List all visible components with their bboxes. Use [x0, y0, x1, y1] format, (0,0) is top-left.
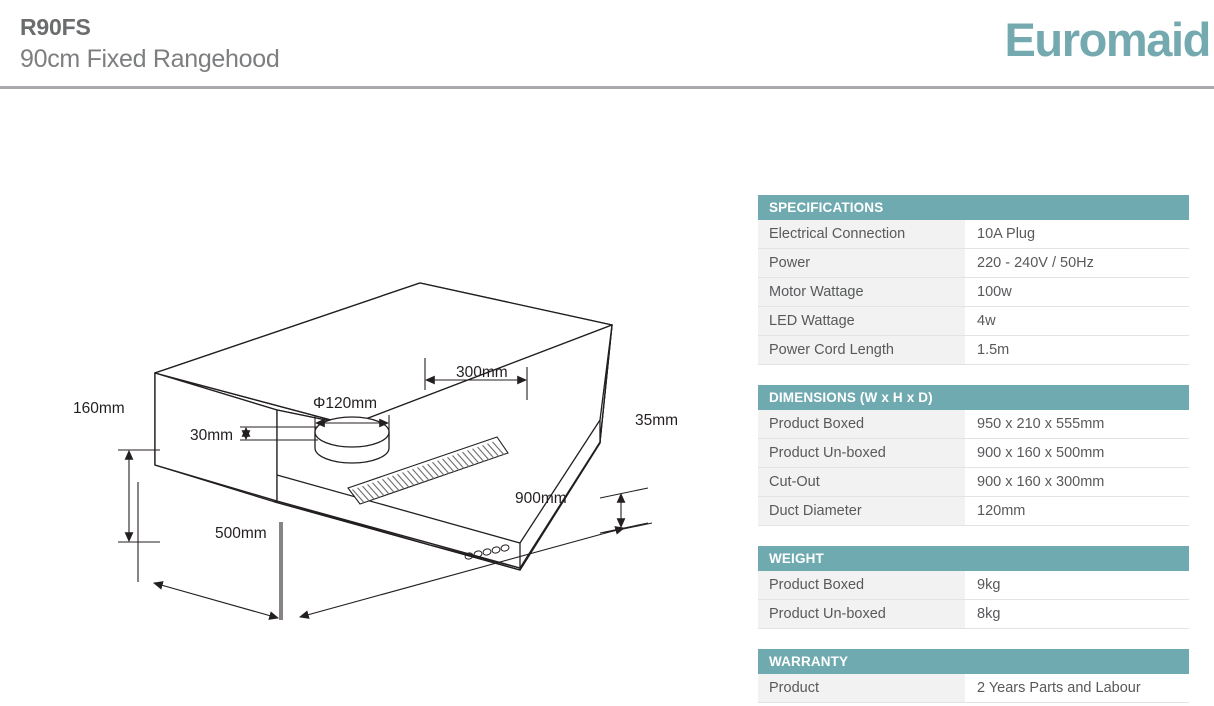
- spec-table-warranty: WARRANTY Product 2 Years Parts and Labou…: [758, 649, 1189, 703]
- spec-label: LED Wattage: [758, 307, 965, 335]
- spec-table-header-specifications: SPECIFICATIONS: [758, 195, 1189, 220]
- table-row: Power 220 - 240V / 50Hz: [758, 249, 1189, 278]
- model-code: R90FS: [20, 14, 91, 41]
- dim-label-duct-diameter: Φ120mm: [313, 395, 377, 412]
- table-row: Electrical Connection 10A Plug: [758, 220, 1189, 249]
- spec-label: Product Un-boxed: [758, 600, 965, 628]
- spec-label: Power Cord Length: [758, 336, 965, 364]
- spec-table-header-dimensions: DIMENSIONS (W x H x D): [758, 385, 1189, 410]
- duct-cylinder: [315, 417, 389, 463]
- brand-logo: Euromaid: [1004, 16, 1210, 63]
- table-row: Duct Diameter 120mm: [758, 497, 1189, 526]
- dim-body-height: [118, 450, 160, 542]
- dim-label-front-band-height: 35mm: [635, 412, 678, 429]
- rangehood-isometric-svg: Φ120mm 30mm 300mm 160mm 35mm 500mm 900mm: [0, 90, 740, 706]
- spec-label: Power: [758, 249, 965, 277]
- dim-front-band-height: [600, 488, 648, 533]
- spec-table-dimensions: DIMENSIONS (W x H x D) Product Boxed 950…: [758, 385, 1189, 526]
- table-row: Product Boxed 950 x 210 x 555mm: [758, 410, 1189, 439]
- spec-value: 1.5m: [965, 336, 1189, 364]
- spec-value: 4w: [965, 307, 1189, 335]
- spec-table-weight: WEIGHT Product Boxed 9kg Product Un-boxe…: [758, 546, 1189, 629]
- table-row: LED Wattage 4w: [758, 307, 1189, 336]
- spec-value: 2 Years Parts and Labour: [965, 674, 1189, 702]
- spec-value: 900 x 160 x 500mm: [965, 439, 1189, 467]
- spec-table-header-warranty: WARRANTY: [758, 649, 1189, 674]
- dim-label-top-depth: 300mm: [456, 364, 508, 381]
- spec-label: Product: [758, 674, 965, 702]
- table-row: Product Un-boxed 8kg: [758, 600, 1189, 629]
- specification-tables: SPECIFICATIONS Electrical Connection 10A…: [758, 195, 1189, 703]
- spec-label: Cut-Out: [758, 468, 965, 496]
- header-divider: [0, 86, 1214, 89]
- dim-label-product-depth: 500mm: [215, 525, 267, 542]
- spec-label: Product Boxed: [758, 410, 965, 438]
- page-header: R90FS 90cm Fixed Rangehood Euromaid: [0, 0, 1214, 90]
- spec-label: Electrical Connection: [758, 220, 965, 248]
- product-name: 90cm Fixed Rangehood: [20, 45, 279, 74]
- table-row: Product Boxed 9kg: [758, 571, 1189, 600]
- spec-table-specifications: SPECIFICATIONS Electrical Connection 10A…: [758, 195, 1189, 365]
- table-row: Power Cord Length 1.5m: [758, 336, 1189, 365]
- spec-value: 100w: [965, 278, 1189, 306]
- table-row: Product Un-boxed 900 x 160 x 500mm: [758, 439, 1189, 468]
- spec-value: 120mm: [965, 497, 1189, 525]
- spec-value: 8kg: [965, 600, 1189, 628]
- spec-value: 900 x 160 x 300mm: [965, 468, 1189, 496]
- dim-label-body-height: 160mm: [73, 400, 125, 417]
- spec-value: 220 - 240V / 50Hz: [965, 249, 1189, 277]
- duct-top-ellipse: [315, 417, 389, 447]
- spec-table-header-weight: WEIGHT: [758, 546, 1189, 571]
- dim-product-depth: [138, 482, 280, 620]
- spec-label: Duct Diameter: [758, 497, 965, 525]
- spec-label: Product Boxed: [758, 571, 965, 599]
- dim-label-duct-height: 30mm: [190, 427, 233, 444]
- spec-value: 950 x 210 x 555mm: [965, 410, 1189, 438]
- spec-label: Product Un-boxed: [758, 439, 965, 467]
- dim-label-product-width: 900mm: [515, 490, 567, 507]
- spec-value: 10A Plug: [965, 220, 1189, 248]
- table-row: Motor Wattage 100w: [758, 278, 1189, 307]
- table-row: Product 2 Years Parts and Labour: [758, 674, 1189, 703]
- product-dimension-drawing: Φ120mm 30mm 300mm 160mm 35mm 500mm 900mm: [0, 90, 740, 706]
- spec-label: Motor Wattage: [758, 278, 965, 306]
- spec-value: 9kg: [965, 571, 1189, 599]
- table-row: Cut-Out 900 x 160 x 300mm: [758, 468, 1189, 497]
